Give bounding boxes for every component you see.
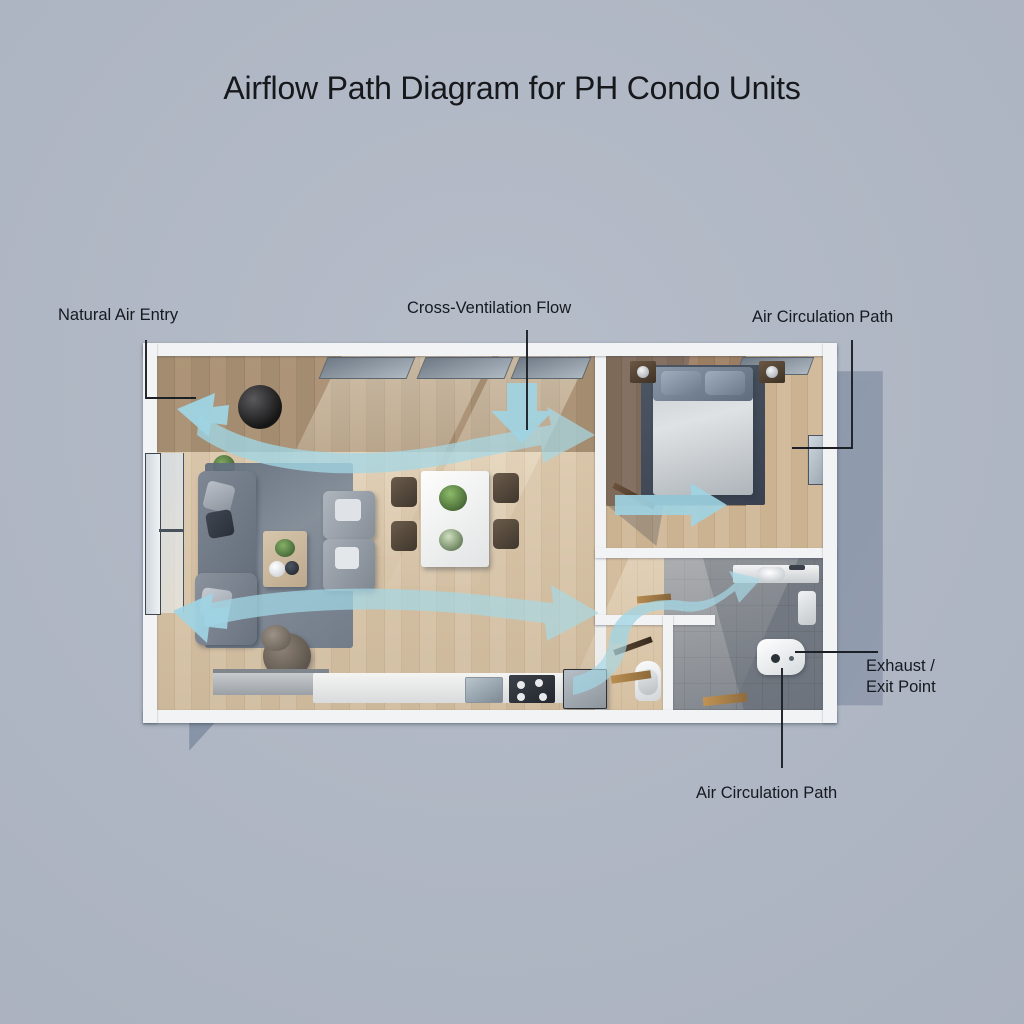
interior-wall: [595, 548, 837, 558]
floor-plan: [143, 343, 837, 723]
callout-cross-ventilation-flow: Cross-Ventilation Flow: [407, 298, 571, 319]
cooktop: [509, 675, 555, 703]
bedside-lamp: [637, 366, 649, 378]
interior-wall: [595, 356, 606, 624]
ceiling-strip: [511, 357, 592, 379]
callout-air-circulation-path-bottom: Air Circulation Path: [696, 783, 837, 804]
table-bowl: [269, 561, 285, 577]
sofa-cushion: [199, 587, 233, 619]
exterior-wall-right: [823, 343, 837, 723]
window-frame: [145, 453, 161, 615]
dining-bowl: [439, 529, 463, 551]
low-console: [213, 673, 329, 695]
kitchen-sink: [465, 677, 503, 703]
cooktop-burner: [539, 693, 547, 701]
cooktop-burner: [535, 679, 543, 687]
page-title: Airflow Path Diagram for PH Condo Units: [0, 70, 1024, 107]
interior-wall: [663, 615, 673, 711]
dining-centerpiece-plant: [439, 485, 467, 511]
ceiling-strip: [319, 357, 416, 379]
bed-pillow: [661, 371, 701, 395]
exterior-wall-top: [143, 343, 837, 356]
floor-plate: [143, 343, 837, 723]
window-glazing: [159, 453, 184, 613]
cooktop-burner: [517, 693, 525, 701]
round-pouf: [238, 385, 282, 429]
diagram-canvas: Airflow Path Diagram for PH Condo Units: [0, 0, 1024, 1024]
table-object: [285, 561, 299, 575]
exhaust-vent-hole: [789, 656, 794, 661]
callout-natural-air-entry: Natural Air Entry: [58, 305, 178, 326]
dining-chair: [391, 521, 417, 551]
cooktop-burner: [517, 681, 525, 689]
loveseat-pillow: [335, 499, 361, 521]
loveseat-pillow: [335, 547, 359, 569]
exhaust-fixture: [757, 639, 805, 675]
shower-panel: [798, 591, 816, 625]
sofa-cushion: [205, 509, 235, 539]
dining-chair: [493, 473, 519, 503]
callout-air-circulation-path-top: Air Circulation Path: [752, 307, 893, 328]
interior-wall: [595, 615, 715, 625]
window-mullion: [159, 529, 183, 532]
vanity-basin: [757, 567, 785, 581]
faucet: [789, 565, 805, 570]
callout-exhaust-exit-point: Exhaust / Exit Point: [866, 656, 936, 699]
exhaust-vent-hole: [771, 654, 780, 663]
bed-pillow: [705, 371, 745, 395]
bedside-lamp: [766, 366, 778, 378]
dining-chair: [391, 477, 417, 507]
ceiling-strip: [417, 357, 514, 379]
round-stool-top: [261, 625, 291, 651]
refrigerator: [563, 669, 607, 709]
dining-chair: [493, 519, 519, 549]
exterior-wall-bottom: [143, 710, 837, 723]
table-plant: [275, 539, 295, 557]
